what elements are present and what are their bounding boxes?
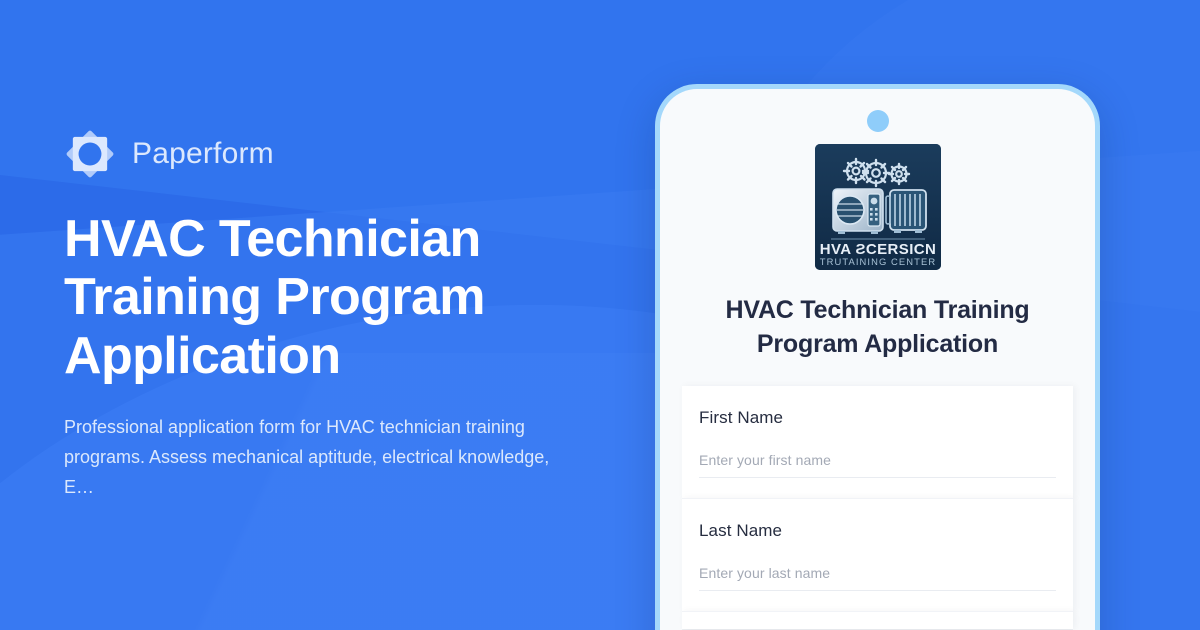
- field-label: Last Name: [699, 521, 1056, 541]
- hero-content: Paperform HVAC Technician Training Progr…: [64, 0, 624, 630]
- svg-text:TRUTAINING CENTER: TRUTAINING CENTER: [819, 256, 935, 267]
- field-label: First Name: [699, 408, 1056, 428]
- brand-name: Paperform: [132, 137, 274, 171]
- form-fields: First Name Enter your first name Last Na…: [660, 386, 1095, 629]
- phone-mockup: HVA ƧCERSICN TRUTAINING CENTER HVAC Tech…: [655, 84, 1100, 630]
- brand: Paperform: [64, 128, 624, 180]
- page-title: HVAC Technician Training Program Applica…: [64, 210, 534, 386]
- first-name-input[interactable]: Enter your first name: [699, 452, 1056, 478]
- paperform-star-logo-icon: [64, 128, 116, 180]
- field-next-partial[interactable]: [682, 611, 1073, 629]
- last-name-input[interactable]: Enter your last name: [699, 565, 1056, 591]
- front-camera-dot-icon: [867, 110, 889, 132]
- hvac-training-center-logo-icon: HVA ƧCERSICN TRUTAINING CENTER: [815, 144, 941, 270]
- page-description: Professional application form for HVAC t…: [64, 412, 569, 503]
- form-title: HVAC Technician Training Program Applica…: [688, 294, 1067, 361]
- field-first-name[interactable]: First Name Enter your first name: [682, 386, 1073, 498]
- field-last-name[interactable]: Last Name Enter your last name: [682, 498, 1073, 611]
